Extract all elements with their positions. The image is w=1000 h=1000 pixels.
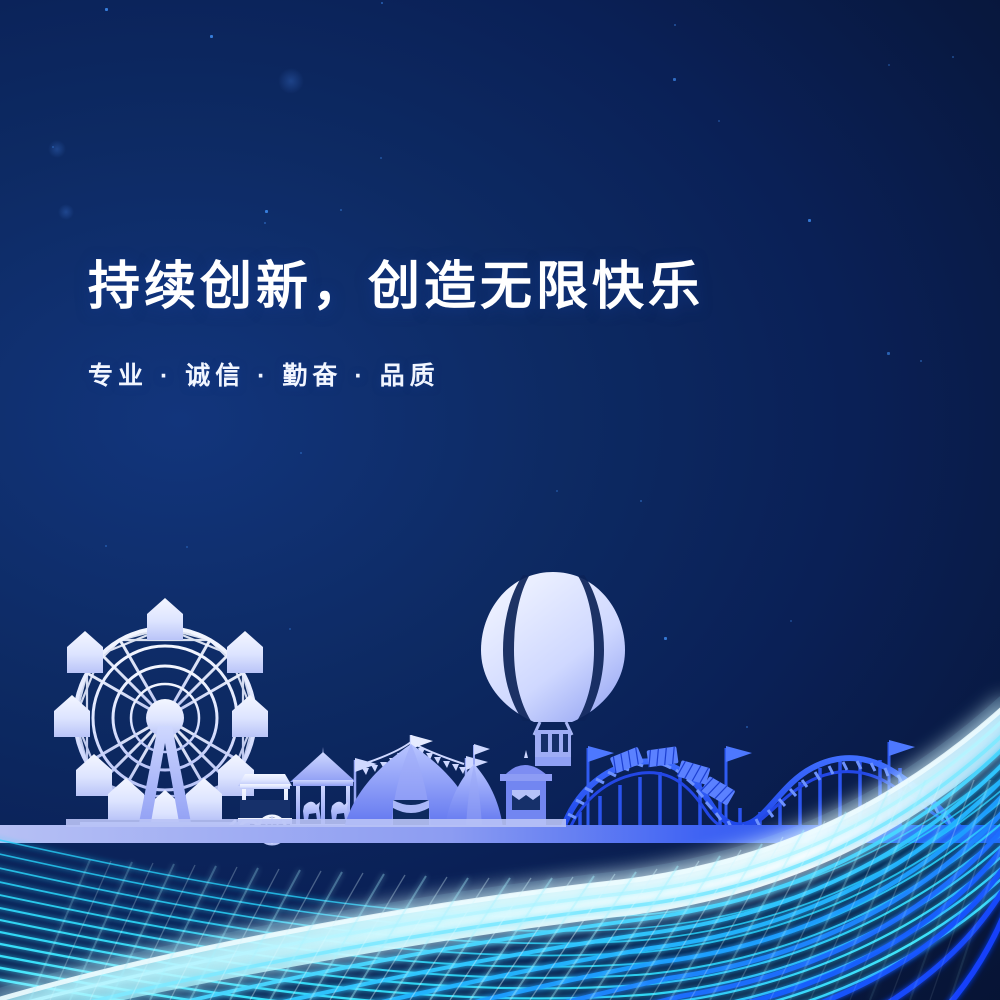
page-subtitle: 专业 · 诚信 · 勤奋 · 品质 <box>88 356 704 392</box>
page-title: 持续创新，创造无限快乐 <box>88 258 704 316</box>
hero-copy: 持续创新，创造无限快乐 专业 · 诚信 · 勤奋 · 品质 <box>88 258 704 392</box>
hero-poster: 持续创新，创造无限快乐 专业 · 诚信 · 勤奋 · 品质 <box>0 0 1000 1000</box>
glowing-wave-mesh <box>0 0 1000 1000</box>
